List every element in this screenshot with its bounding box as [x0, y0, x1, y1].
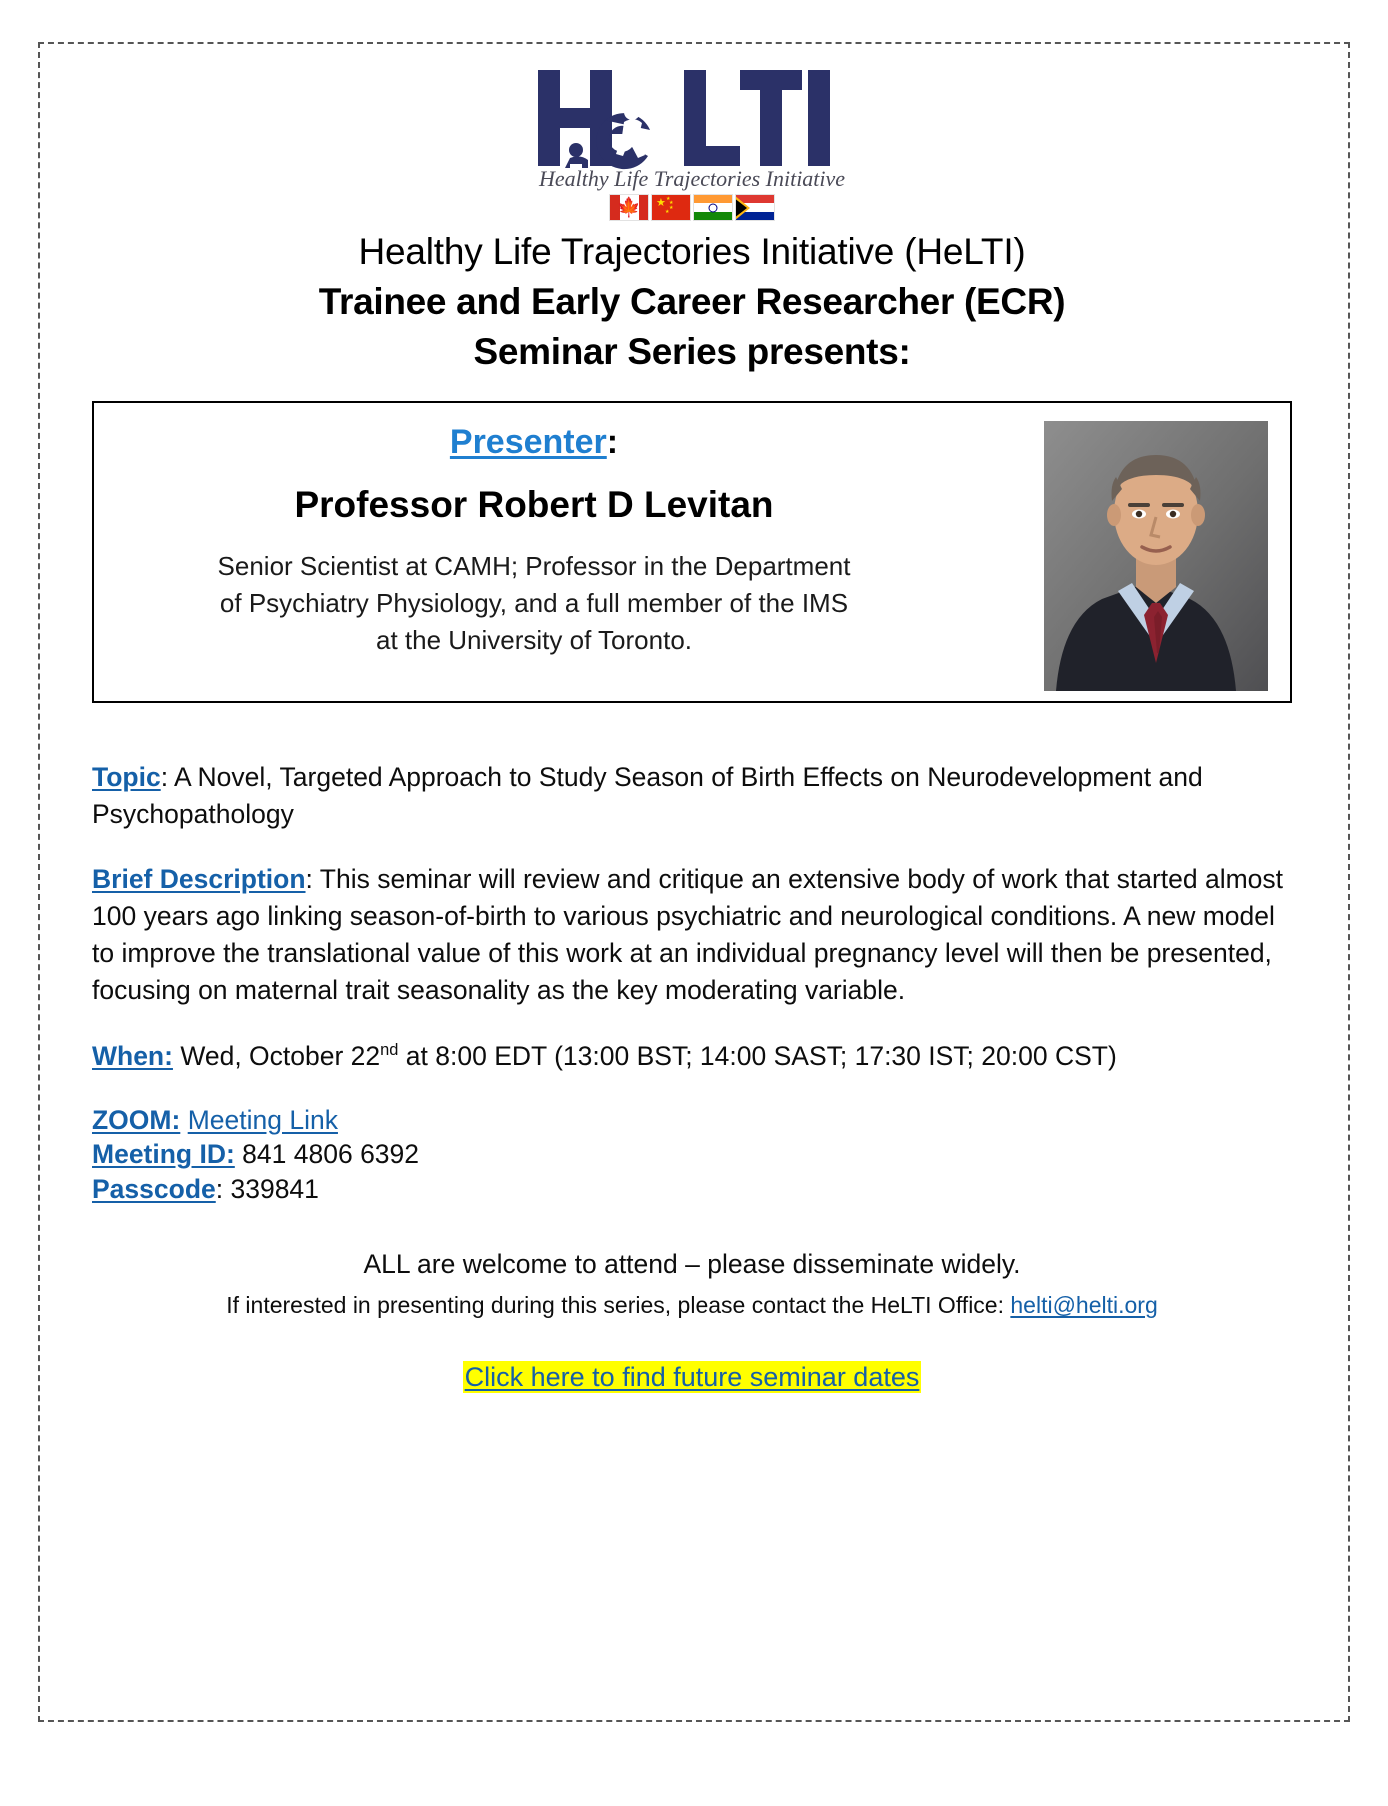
- flyer-footer: ALL are welcome to attend – please disse…: [92, 1246, 1292, 1397]
- zoom-details: ZOOM: Meeting Link Meeting ID: 841 4806 …: [92, 1103, 1292, 1206]
- flyer-body: Topic: A Novel, Targeted Approach to Stu…: [92, 759, 1292, 1397]
- topic-text: A Novel, Targeted Approach to Study Seas…: [92, 762, 1203, 829]
- presenter-bio-line-2: of Psychiatry Physiology, and a full mem…: [118, 585, 950, 622]
- logo-tagline: Healthy Life Trajectories Initiative: [538, 166, 845, 191]
- zoom-label: ZOOM:: [92, 1105, 180, 1135]
- south-africa-flag: [735, 194, 775, 221]
- contact-email-link[interactable]: helti@helti.org: [1010, 1292, 1157, 1318]
- zoom-line: ZOOM: Meeting Link: [92, 1103, 1292, 1137]
- presenter-bio-line-3: at the University of Toronto.: [118, 622, 950, 659]
- passcode-label: Passcode: [92, 1174, 216, 1204]
- topic-label: Topic: [92, 762, 161, 792]
- subtitle-line-1: Trainee and Early Career Researcher (ECR…: [92, 281, 1292, 323]
- presenter-headshot: [1044, 421, 1268, 691]
- passcode-value: 339841: [230, 1174, 318, 1204]
- future-seminar-dates-link[interactable]: Click here to find future seminar dates: [463, 1361, 922, 1393]
- flyer-content: Healthy Life Trajectories Initiative 🍁 ★…: [92, 58, 1292, 1397]
- presenter-details: Presenter: Professor Robert D Levitan Se…: [94, 403, 974, 659]
- when-date-ordinal: nd: [380, 1041, 398, 1059]
- description-colon: :: [306, 864, 320, 894]
- page-title: Healthy Life Trajectories Initiative (He…: [92, 231, 1292, 273]
- china-flag: ★ ★★ ★★: [651, 194, 691, 221]
- subtitle-line-2: Seminar Series presents:: [92, 331, 1292, 373]
- meeting-id-value: 841 4806 6392: [235, 1139, 419, 1169]
- presenter-name: Professor Robert D Levitan: [94, 484, 974, 526]
- description-paragraph: Brief Description: This seminar will rev…: [92, 861, 1292, 1009]
- passcode-colon: :: [216, 1174, 231, 1204]
- presenter-label-colon: :: [607, 423, 618, 461]
- passcode-line: Passcode: 339841: [92, 1172, 1292, 1206]
- when-date-prefix: Wed, October 22: [173, 1041, 380, 1071]
- presenter-label: Presenter: [450, 423, 607, 461]
- future-dates-row: Click here to find future seminar dates: [92, 1359, 1292, 1397]
- canada-flag: 🍁: [609, 194, 649, 221]
- helti-logo-svg: Healthy Life Trajectories Initiative: [532, 64, 852, 192]
- flyer-page: Healthy Life Trajectories Initiative 🍁 ★…: [38, 42, 1350, 1722]
- contact-note-text: If interested in presenting during this …: [226, 1292, 1010, 1318]
- welcome-note: ALL are welcome to attend – please disse…: [92, 1246, 1292, 1283]
- meeting-link[interactable]: Meeting Link: [188, 1105, 338, 1135]
- when-paragraph: When: Wed, October 22nd at 8:00 EDT (13:…: [92, 1038, 1292, 1075]
- presenter-box: Presenter: Professor Robert D Levitan Se…: [92, 401, 1292, 703]
- description-label: Brief Description: [92, 864, 306, 894]
- presenter-bio: Senior Scientist at CAMH; Professor in t…: [94, 548, 974, 659]
- meeting-id-label: Meeting ID:: [92, 1139, 235, 1169]
- meeting-id-line: Meeting ID: 841 4806 6392: [92, 1137, 1292, 1171]
- contact-note: If interested in presenting during this …: [92, 1289, 1292, 1321]
- topic-colon: :: [161, 762, 174, 792]
- partner-country-flags: 🍁 ★ ★★ ★★: [92, 194, 1292, 221]
- helti-logo: Healthy Life Trajectories Initiative: [92, 64, 1292, 192]
- presenter-bio-line-1: Senior Scientist at CAMH; Professor in t…: [118, 548, 950, 585]
- topic-paragraph: Topic: A Novel, Targeted Approach to Stu…: [92, 759, 1292, 833]
- headshot-image: [1044, 421, 1268, 691]
- india-flag: [693, 194, 733, 221]
- when-date-rest: at 8:00 EDT (13:00 BST; 14:00 SAST; 17:3…: [398, 1041, 1116, 1071]
- when-label: When:: [92, 1041, 173, 1071]
- presenter-heading: Presenter:: [94, 423, 974, 462]
